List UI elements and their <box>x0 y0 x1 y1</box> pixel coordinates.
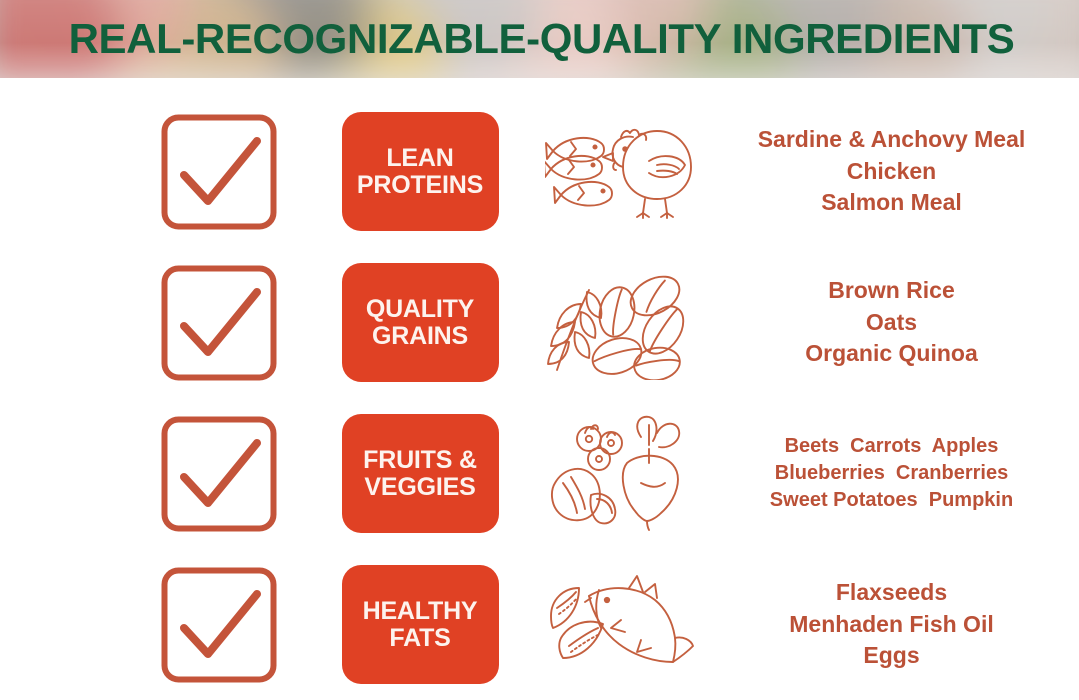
page-title: REAL-RECOGNIZABLE-QUALITY INGREDIENTS <box>0 18 1079 60</box>
badge-line-2: GRAINS <box>372 323 468 350</box>
ingredient-list: Sardine & Anchovy Meal Chicken Salmon Me… <box>758 124 1026 219</box>
icon-cell <box>520 411 720 536</box>
infographic-page: REAL-RECOGNIZABLE-QUALITY INGREDIENTS LE… <box>0 0 1079 682</box>
ingredient-list-cell: Brown Rice Oats Organic Quinoa <box>720 275 1079 370</box>
badge-line-1: HEALTHY <box>363 598 478 625</box>
ingredient-rows: LEAN PROTEINS <box>0 78 1079 682</box>
ingredient-row: FRUITS & VEGGIES <box>0 398 1079 549</box>
ingredient-list: Brown Rice Oats Organic Quinoa <box>805 275 978 370</box>
icon-cell <box>520 109 720 234</box>
badge-cell: QUALITY GRAINS <box>320 263 520 382</box>
icon-cell <box>520 260 720 385</box>
badge-line-2: VEGGIES <box>364 474 475 501</box>
ingredient-line: Chicken <box>758 156 1026 188</box>
checkbox-checked-icon[interactable] <box>160 113 278 231</box>
category-badge[interactable]: QUALITY GRAINS <box>342 263 499 382</box>
checkbox-cell <box>0 566 320 684</box>
category-badge[interactable]: LEAN PROTEINS <box>342 112 499 231</box>
ingredient-line: Brown Rice <box>805 275 978 307</box>
ingredient-line: Sweet Potatoes Pumpkin <box>770 487 1013 514</box>
fish-and-chicken-icon <box>545 109 695 234</box>
ingredient-line: Oats <box>805 307 978 339</box>
ingredient-list-cell: Flaxseeds Menhaden Fish Oil Eggs <box>720 577 1079 672</box>
ingredient-list: Beets Carrots Apples Blueberries Cranber… <box>770 433 1013 515</box>
ingredient-line: Eggs <box>789 640 993 672</box>
checkbox-cell <box>0 415 320 533</box>
category-badge[interactable]: HEALTHY FATS <box>342 565 499 684</box>
checkbox-cell <box>0 264 320 382</box>
flaxseed-and-fish-icon <box>545 562 695 687</box>
badge-line-2: PROTEINS <box>357 172 483 199</box>
ingredient-line: Flaxseeds <box>789 577 993 609</box>
badge-cell: HEALTHY FATS <box>320 565 520 684</box>
icon-cell <box>520 562 720 687</box>
ingredient-line: Organic Quinoa <box>805 338 978 370</box>
checkbox-checked-icon[interactable] <box>160 566 278 684</box>
badge-cell: FRUITS & VEGGIES <box>320 414 520 533</box>
ingredient-line: Salmon Meal <box>758 187 1026 219</box>
checkbox-cell <box>0 113 320 231</box>
badge-line-2: FATS <box>389 625 450 652</box>
checkbox-checked-icon[interactable] <box>160 415 278 533</box>
badge-cell: LEAN PROTEINS <box>320 112 520 231</box>
header-banner: REAL-RECOGNIZABLE-QUALITY INGREDIENTS <box>0 0 1079 78</box>
ingredient-row: HEALTHY FATS <box>0 549 1079 700</box>
ingredient-row: LEAN PROTEINS <box>0 96 1079 247</box>
wheat-and-grains-icon <box>545 260 695 385</box>
badge-line-1: LEAN <box>386 145 453 172</box>
ingredient-list: Flaxseeds Menhaden Fish Oil Eggs <box>789 577 993 672</box>
badge-line-1: FRUITS & <box>363 447 477 474</box>
category-badge[interactable]: FRUITS & VEGGIES <box>342 414 499 533</box>
checkbox-checked-icon[interactable] <box>160 264 278 382</box>
sweet-potato-blueberry-beet-icon <box>545 411 695 536</box>
ingredient-list-cell: Beets Carrots Apples Blueberries Cranber… <box>720 433 1079 515</box>
ingredient-line: Blueberries Cranberries <box>770 460 1013 487</box>
badge-line-1: QUALITY <box>366 296 474 323</box>
ingredient-row: QUALITY GRAINS <box>0 247 1079 398</box>
ingredient-line: Menhaden Fish Oil <box>789 609 993 641</box>
ingredient-line: Sardine & Anchovy Meal <box>758 124 1026 156</box>
ingredient-line: Beets Carrots Apples <box>770 433 1013 460</box>
ingredient-list-cell: Sardine & Anchovy Meal Chicken Salmon Me… <box>720 124 1079 219</box>
